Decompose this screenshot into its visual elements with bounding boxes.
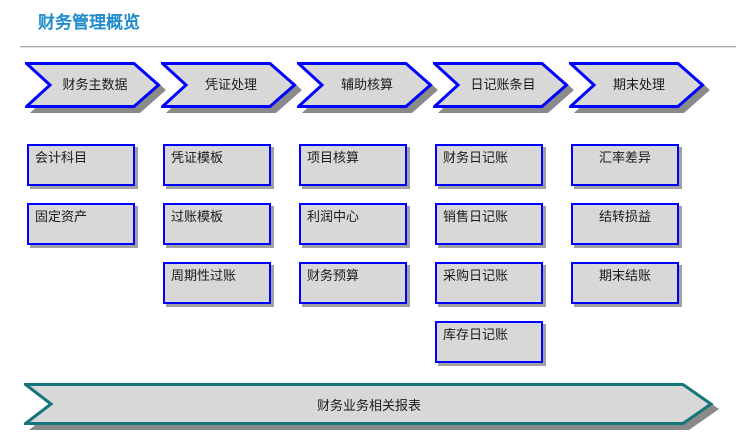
node-box[interactable]: 过账模板: [163, 203, 271, 245]
node-box[interactable]: 财务日记账: [435, 144, 543, 186]
node-box[interactable]: 财务预算: [299, 262, 407, 304]
node-box[interactable]: 结转损益: [571, 203, 679, 245]
node-box[interactable]: 项目核算: [299, 144, 407, 186]
banner-label: 财务业务相关报表: [24, 383, 714, 425]
bottom-banner[interactable]: 财务业务相关报表: [24, 383, 714, 425]
node-grid: 会计科目固定资产凭证模板过账模板周期性过账项目核算利润中心财务预算财务日记账销售…: [0, 0, 736, 441]
node-box[interactable]: 凭证模板: [163, 144, 271, 186]
node-box[interactable]: 销售日记账: [435, 203, 543, 245]
node-box[interactable]: 会计科目: [27, 144, 135, 186]
node-box[interactable]: 期末结账: [571, 262, 679, 304]
node-box[interactable]: 固定资产: [27, 203, 135, 245]
node-box[interactable]: 库存日记账: [435, 321, 543, 363]
node-box[interactable]: 采购日记账: [435, 262, 543, 304]
node-box[interactable]: 汇率差异: [571, 144, 679, 186]
node-box[interactable]: 周期性过账: [163, 262, 271, 304]
node-box[interactable]: 利润中心: [299, 203, 407, 245]
